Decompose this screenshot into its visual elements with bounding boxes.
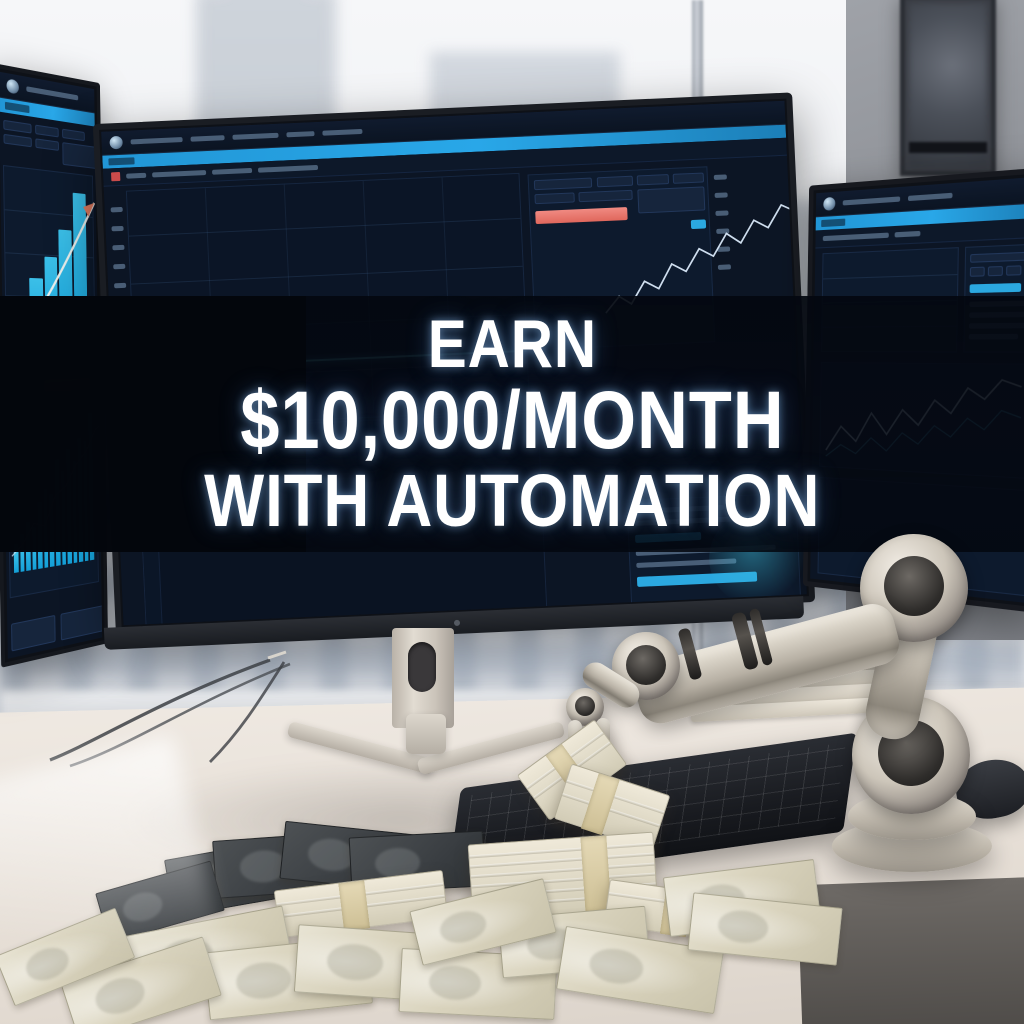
monitor-cables: [40, 640, 360, 770]
headline-text-block: EARN $10,000/MONTH WITH AUTOMATION: [0, 294, 1024, 554]
joint-cap: [884, 556, 944, 616]
app-logo-icon: [823, 197, 835, 211]
nav-label[interactable]: [843, 196, 900, 205]
nav-label: [26, 86, 78, 100]
kpi-chip[interactable]: [3, 120, 31, 134]
menu-item[interactable]: [131, 137, 183, 144]
app-logo-icon: [6, 78, 19, 94]
stat-tile[interactable]: [61, 605, 103, 640]
headline-line-2: $10,000/MONTH: [240, 380, 784, 462]
menu-item[interactable]: [286, 131, 314, 137]
kpi-chip[interactable]: [3, 134, 31, 147]
wall-art-frame: [900, 0, 996, 176]
nav-label[interactable]: [908, 193, 953, 201]
kpi-chip[interactable]: [62, 142, 97, 169]
kpi-chip[interactable]: [35, 125, 59, 138]
menu-item[interactable]: [190, 135, 224, 142]
active-tab[interactable]: [108, 157, 134, 165]
kpi-chip[interactable]: [35, 138, 59, 151]
promotional-image-scene: EARN $10,000/MONTH WITH AUTOMATION: [0, 0, 1024, 1024]
stand-hub: [406, 714, 446, 754]
record-indicator-icon: [111, 172, 120, 181]
apply-button[interactable]: [970, 283, 1022, 293]
menu-item[interactable]: [322, 129, 362, 136]
headline-line-1: EARN: [427, 310, 596, 378]
app-logo-icon: [109, 136, 123, 150]
kpi-chip[interactable]: [62, 129, 85, 142]
active-tab[interactable]: [5, 102, 30, 113]
power-led-icon: [454, 620, 460, 626]
cable-pass-through: [408, 642, 436, 692]
joint-cap: [575, 696, 595, 716]
wall-art-bar: [909, 142, 987, 153]
menu-item[interactable]: [232, 133, 278, 140]
joint-cap: [626, 645, 666, 685]
cash-band: [338, 880, 370, 931]
monitor-stand-neck: [392, 628, 454, 728]
active-tab[interactable]: [821, 219, 845, 228]
